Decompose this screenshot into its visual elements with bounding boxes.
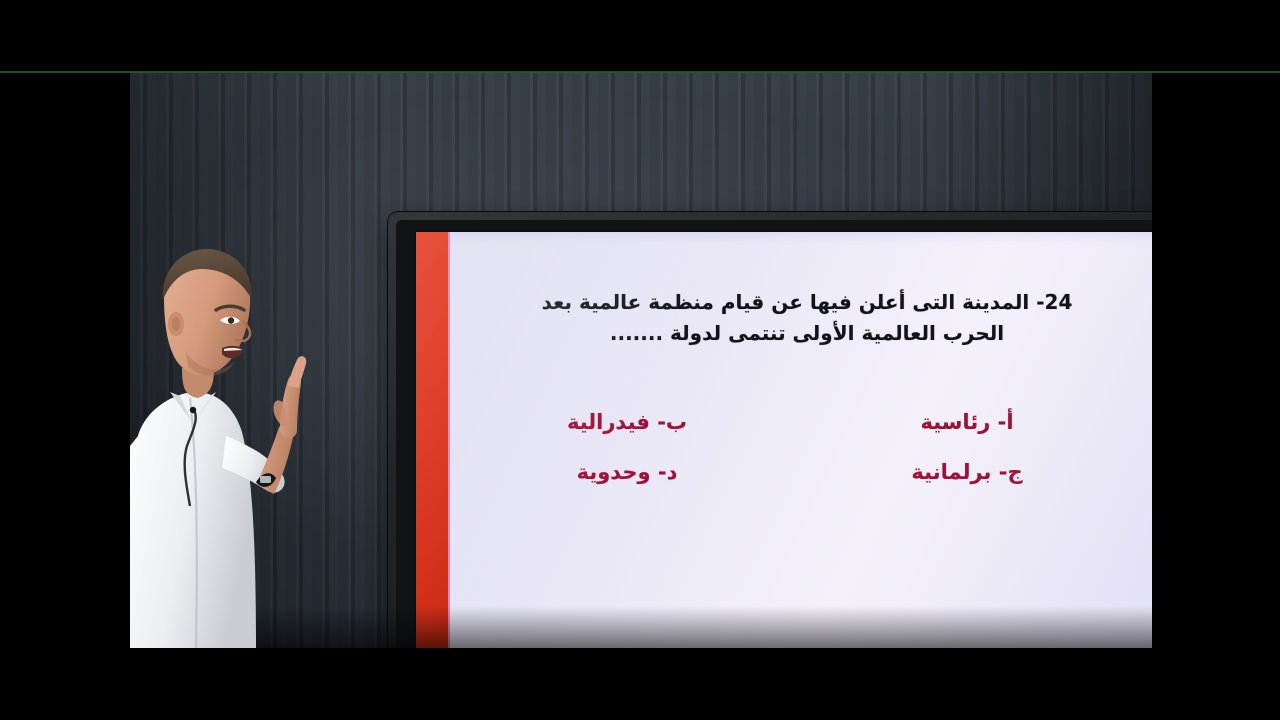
presenter-figure [130, 240, 320, 648]
answer-options-grid: أ- رئاسية ب- فيدرالية ج- برلمانية د- وحد… [457, 410, 1137, 484]
display-screen[interactable]: 24- المدينة التى أعلن فيها عن قيام منظمة… [416, 232, 1152, 648]
answer-option-c[interactable]: ج- برلمانية [797, 460, 1137, 484]
letterbox-left [0, 0, 130, 720]
question-line-2: الحرب العالمية الأولى تنتمى لدولة ......… [467, 318, 1147, 349]
answer-option-d[interactable]: د- وحدوية [457, 460, 797, 484]
letterbox-right [1152, 0, 1280, 720]
slide-content: 24- المدينة التى أعلن فيها عن قيام منظمة… [450, 232, 1152, 648]
letterbox-bottom [0, 648, 1280, 720]
answer-option-a[interactable]: أ- رئاسية [797, 410, 1137, 434]
video-content-area: 24- المدينة التى أعلن فيها عن قيام منظمة… [130, 72, 1152, 648]
slide-accent-stripe [416, 232, 448, 648]
question-text: 24- المدينة التى أعلن فيها عن قيام منظمة… [467, 287, 1147, 349]
letterbox-top [0, 0, 1280, 72]
question-line-1: 24- المدينة التى أعلن فيها عن قيام منظمة… [467, 287, 1147, 318]
video-frame: 24- المدينة التى أعلن فيها عن قيام منظمة… [0, 0, 1280, 720]
presenter-index-finger [288, 356, 306, 388]
answer-option-b[interactable]: ب- فيدرالية [457, 410, 797, 434]
